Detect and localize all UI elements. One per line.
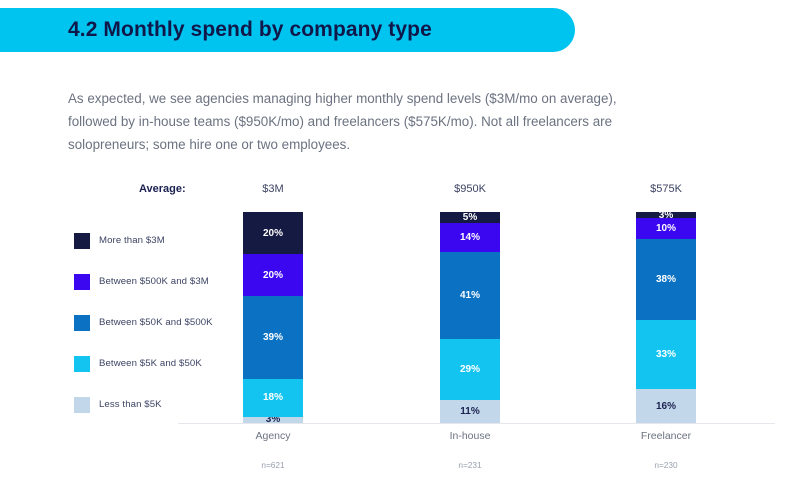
legend-item-label: Between $5K and $50K (99, 358, 202, 369)
legend-item[interactable]: Between $50K and $500K (74, 302, 254, 343)
legend-swatch-icon (74, 315, 90, 331)
legend-item[interactable]: Between $5K and $50K (74, 343, 254, 384)
bar-segment[interactable]: 5% (440, 212, 500, 223)
bar-segment[interactable]: 20% (243, 254, 303, 296)
bar-segment-label: 11% (460, 406, 479, 417)
legend-item[interactable]: More than $3M (74, 220, 254, 261)
bar-segment-label: 20% (263, 270, 283, 281)
bar-segment-label: 5% (463, 212, 477, 223)
legend-swatch-icon (74, 397, 90, 413)
bar-segment-label: 14% (460, 232, 480, 243)
bar-segment[interactable]: 16% (636, 389, 696, 423)
bar-segment-label: 10% (656, 223, 676, 234)
page-title: 4.2 Monthly spend by company type (68, 18, 432, 42)
bar-segment-label: 29% (460, 364, 480, 375)
sample-size-label: n=621 (243, 460, 303, 470)
bar-segment-label: 38% (656, 274, 676, 285)
legend-swatch-icon (74, 274, 90, 290)
bar-segment-label: 20% (263, 228, 283, 239)
bar-stack: 20%20%39%18%3% (243, 212, 303, 423)
bar-segment-label: 39% (263, 332, 283, 343)
bar-segment[interactable]: 29% (440, 339, 500, 400)
legend-item[interactable]: Less than $5K (74, 384, 254, 425)
category-label: Freelancer (636, 430, 696, 442)
bar-segment[interactable]: 10% (636, 218, 696, 239)
column-average-value: $950K (440, 183, 500, 195)
column-average-value: $3M (243, 183, 303, 195)
bar-segment[interactable]: 18% (243, 379, 303, 417)
bar-segment-label: 18% (263, 392, 283, 403)
bar-segment-label: 16% (656, 401, 676, 412)
intro-paragraph: As expected, we see agencies managing hi… (68, 87, 628, 156)
bar-segment-label: 41% (460, 290, 480, 301)
chart-baseline (178, 423, 775, 424)
legend-item-label: Less than $5K (99, 399, 162, 410)
bar-segment[interactable]: 20% (243, 212, 303, 254)
legend-item-label: Between $500K and $3M (99, 276, 209, 287)
chart-legend: More than $3MBetween $500K and $3MBetwee… (74, 220, 254, 425)
legend-swatch-icon (74, 233, 90, 249)
column-average-value: $575K (636, 183, 696, 195)
bar-segment[interactable]: 14% (440, 223, 500, 253)
sample-size-label: n=231 (440, 460, 500, 470)
category-label: In-house (440, 430, 500, 442)
sample-size-label: n=230 (636, 460, 696, 470)
bar-stack: 5%14%41%29%11% (440, 212, 500, 423)
bar-segment[interactable]: 33% (636, 320, 696, 390)
category-label: Agency (243, 430, 303, 442)
section-title-banner: 4.2 Monthly spend by company type (0, 8, 575, 52)
bar-segment[interactable]: 39% (243, 296, 303, 378)
average-row-label: Average: (139, 183, 186, 195)
bar-stack: 3%10%38%33%16% (636, 212, 696, 423)
stacked-bar-chart: More than $3MBetween $500K and $3MBetwee… (0, 165, 786, 493)
legend-item-label: More than $3M (99, 235, 165, 246)
bar-segment[interactable]: 41% (440, 252, 500, 339)
bar-segment-label: 33% (656, 349, 676, 360)
legend-item[interactable]: Between $500K and $3M (74, 261, 254, 302)
legend-item-label: Between $50K and $500K (99, 317, 213, 328)
bar-segment[interactable]: 11% (440, 400, 500, 423)
bar-segment[interactable]: 38% (636, 239, 696, 319)
legend-swatch-icon (74, 356, 90, 372)
